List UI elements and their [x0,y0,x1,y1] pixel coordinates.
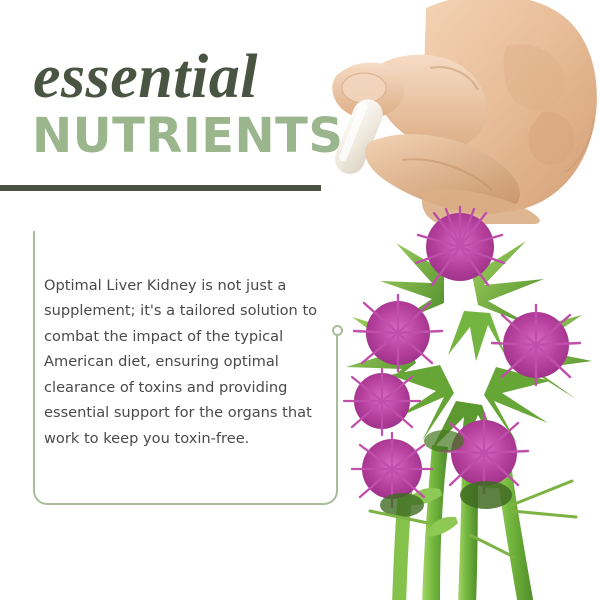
milk-thistle-image [336,205,600,600]
bloom-bottom-center [440,413,528,493]
thistle-blooms [344,207,580,507]
base-3 [424,430,464,452]
frame-endpoint-dot-icon [332,325,343,336]
bloom-ll-spikes [344,369,420,435]
callout-body-text: Optimal Liver Kidney is not just a suppl… [44,273,329,452]
page-title-script: essential [33,46,258,108]
bloom-right-upper [492,305,580,385]
bloom-left-lower [344,369,420,435]
hand-illustration-svg [330,0,600,224]
hand-holding-capsule-image [330,0,600,224]
header-divider-rule [0,185,321,191]
thistle-illustration-svg [336,205,600,600]
base-1 [460,481,512,509]
promo-graphic: essential NUTRIENTS Optimal Liver Kidney… [0,0,600,600]
bract-cluster-8 [448,311,506,361]
frame-right-gap-mask [330,225,346,331]
page-title-block: NUTRIENTS [32,112,343,160]
